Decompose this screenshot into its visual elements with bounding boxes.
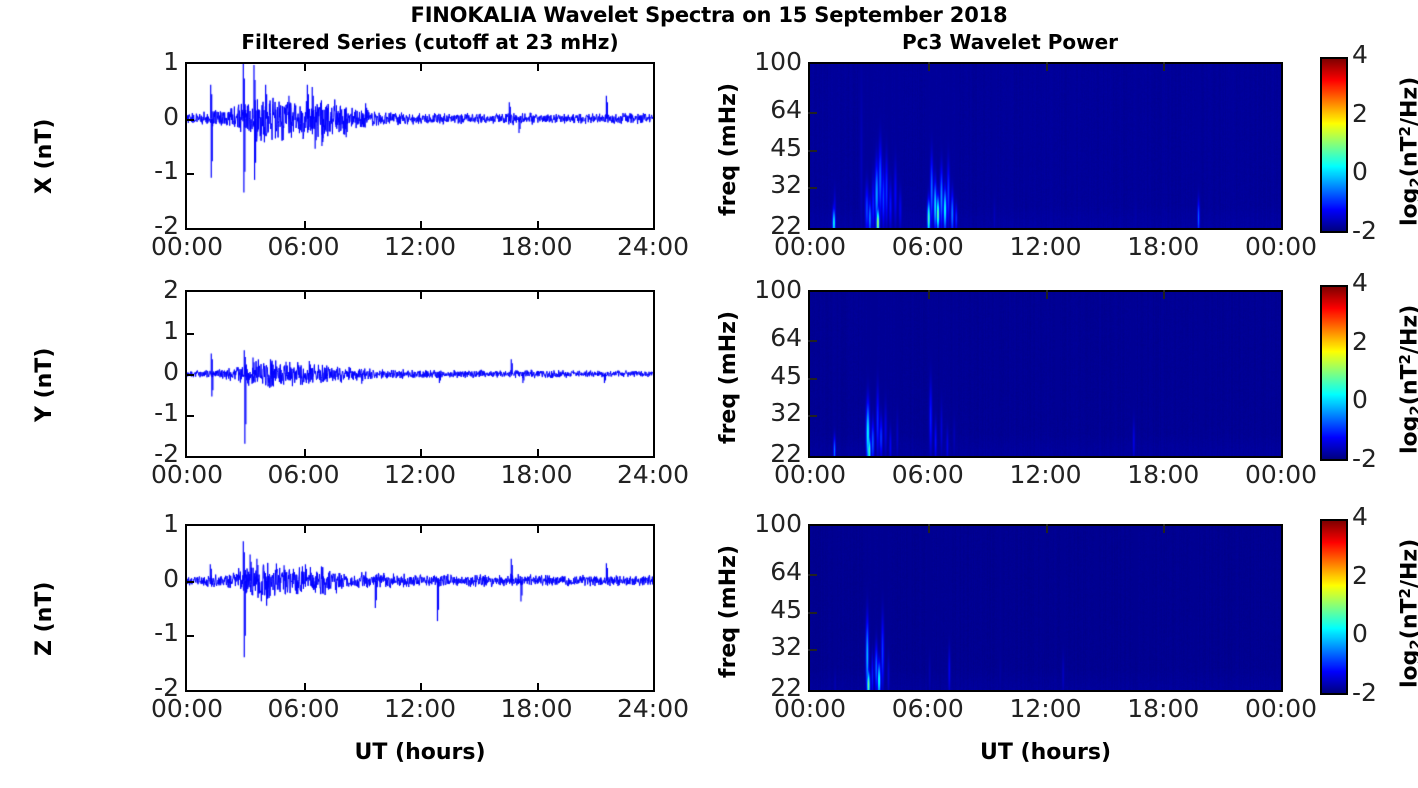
xtick-mark [537,683,539,692]
xtick-mark [304,290,306,299]
xtick-x-2: 12:00 [360,232,480,261]
timeseries-canvas-y [187,292,653,456]
xtick-z-1: 06:00 [244,694,364,723]
xtick-x-1: 06:00 [244,232,364,261]
colorbar-z [1320,519,1348,695]
xtick-mark [420,290,422,299]
spec-ytick-y-100: 100 [718,275,802,304]
xtick-mark [420,221,422,230]
spec-ytick-mark [808,340,817,342]
ylabel-x: X (nT) [32,119,57,194]
xtick-mark [304,449,306,458]
xtick-mark [304,62,306,71]
left-column-title: Filtered Series (cutoff at 23 mHz) [120,30,740,54]
ylabel-z: Z (nT) [32,582,57,656]
spec-xtick-y-2: 12:00 [984,460,1108,489]
colorbar-label-y: log2(nT2/Hz) [1396,305,1418,454]
ytick-x--1: -1 [123,156,179,185]
xtick-x-0: 00:00 [127,232,247,261]
spec-xtick-x-1: 06:00 [866,232,990,261]
colorbar-tick-x-0: 0 [1352,157,1396,186]
xtick-mark [304,221,306,230]
spec-ytick-mark [808,574,817,576]
xlabel-left: UT (hours) [185,740,655,765]
spec-xtick-mark [1163,290,1165,299]
ytick-mark [185,581,194,583]
colorbar-tick-x-4: 4 [1352,40,1396,69]
spec-xtick-mark [1046,524,1048,533]
ytick-z-0: 0 [123,564,179,593]
colorbar-gradient-x [1322,59,1346,231]
ytick-mark [185,119,194,121]
ytick-z-1: 1 [123,509,179,538]
spec-xtick-z-4: 00:00 [1219,694,1343,723]
xtick-y-4: 24:00 [593,460,713,489]
xtick-mark [304,524,306,533]
spec-xtick-mark [928,62,930,71]
xtick-y-1: 06:00 [244,460,364,489]
colorbar-tick-y--2: -2 [1352,444,1396,473]
colorbar-tick-x--2: -2 [1352,216,1396,245]
ylabel-y: Y (nT) [32,348,57,422]
colorbar-tick-y-4: 4 [1352,268,1396,297]
xtick-z-0: 00:00 [127,694,247,723]
spectrogram-canvas-z [810,526,1281,690]
colorbar-y [1320,285,1348,461]
colorbar-tick-z-0: 0 [1352,619,1396,648]
spec-ytick-mark [808,378,817,380]
spec-ylabel-y: freq (mHz) [716,311,741,444]
spec-ytick-mark [808,150,817,152]
colorbar-tick-z-2: 2 [1352,561,1396,590]
xtick-mark [537,524,539,533]
spec-ytick-mark [808,415,817,417]
spectrogram-plot-x [808,62,1283,230]
spec-xtick-z-2: 12:00 [984,694,1108,723]
xtick-x-4: 24:00 [593,232,713,261]
colorbar-tick-y-2: 2 [1352,327,1396,356]
xtick-z-3: 18:00 [477,694,597,723]
spec-xtick-mark [928,524,930,533]
spectrogram-plot-y [808,290,1283,458]
xtick-mark [420,62,422,71]
colorbar-tick-x-2: 2 [1352,99,1396,128]
spec-ytick-x-100: 100 [718,47,802,76]
timeseries-canvas-z [187,526,653,690]
spec-xtick-z-1: 06:00 [866,694,990,723]
xtick-mark [420,683,422,692]
xtick-mark [537,290,539,299]
spec-xtick-x-3: 18:00 [1101,232,1225,261]
spectrogram-plot-z [808,524,1283,692]
ytick-x-0: 0 [123,102,179,131]
ytick-y-0: 0 [123,357,179,386]
xtick-x-3: 18:00 [477,232,597,261]
colorbar-tick-z-4: 4 [1352,502,1396,531]
ytick-y-1: 1 [123,316,179,345]
figure-title: FINOKALIA Wavelet Spectra on 15 Septembe… [0,3,1418,27]
xtick-y-3: 18:00 [477,460,597,489]
colorbar-label-z: log2(nT2/Hz) [1396,539,1418,688]
spec-ytick-mark [808,649,817,651]
ytick-y-2: 2 [123,275,179,304]
ytick-y--1: -1 [123,398,179,427]
spectrogram-canvas-x [810,64,1281,228]
spectrogram-canvas-y [810,292,1281,456]
spec-ytick-z-100: 100 [718,509,802,538]
spec-xtick-mark [928,290,930,299]
timeseries-plot-x [185,62,655,230]
spec-xtick-y-1: 06:00 [866,460,990,489]
ytick-mark [185,333,194,335]
spec-xtick-z-3: 18:00 [1101,694,1225,723]
xtick-z-4: 24:00 [593,694,713,723]
spec-xtick-mark [1046,290,1048,299]
colorbar-gradient-z [1322,521,1346,693]
ytick-x-1: 1 [123,47,179,76]
ytick-z--1: -1 [123,618,179,647]
ytick-mark [185,635,194,637]
spec-xtick-x-2: 12:00 [984,232,1108,261]
xtick-mark [420,449,422,458]
spec-xtick-z-0: 00:00 [748,694,872,723]
xtick-mark [420,524,422,533]
xtick-mark [304,683,306,692]
spec-xtick-y-3: 18:00 [1101,460,1225,489]
xlabel-right: UT (hours) [808,740,1283,765]
ytick-mark [185,173,194,175]
xtick-z-2: 12:00 [360,694,480,723]
ytick-mark [185,415,194,417]
xtick-mark [537,62,539,71]
spec-ytick-mark [808,187,817,189]
xtick-y-2: 12:00 [360,460,480,489]
spec-xtick-y-4: 00:00 [1219,460,1343,489]
timeseries-canvas-x [187,64,653,228]
xtick-mark [537,221,539,230]
spec-ytick-mark [808,612,817,614]
colorbar-tick-y-0: 0 [1352,385,1396,414]
xtick-y-0: 00:00 [127,460,247,489]
xtick-mark [537,449,539,458]
spec-ylabel-z: freq (mHz) [716,545,741,678]
timeseries-plot-y [185,290,655,458]
timeseries-plot-z [185,524,655,692]
spec-xtick-mark [1046,62,1048,71]
spec-xtick-mark [1163,62,1165,71]
spec-xtick-y-0: 00:00 [748,460,872,489]
spec-ylabel-x: freq (mHz) [716,83,741,216]
colorbar-tick-z--2: -2 [1352,678,1396,707]
spec-ytick-mark [808,112,817,114]
colorbar-label-x: log2(nT2/Hz) [1396,77,1418,226]
spec-xtick-mark [1163,524,1165,533]
ytick-mark [185,374,194,376]
colorbar-gradient-y [1322,287,1346,459]
spec-xtick-x-4: 00:00 [1219,232,1343,261]
colorbar-x [1320,57,1348,233]
spec-xtick-x-0: 00:00 [748,232,872,261]
